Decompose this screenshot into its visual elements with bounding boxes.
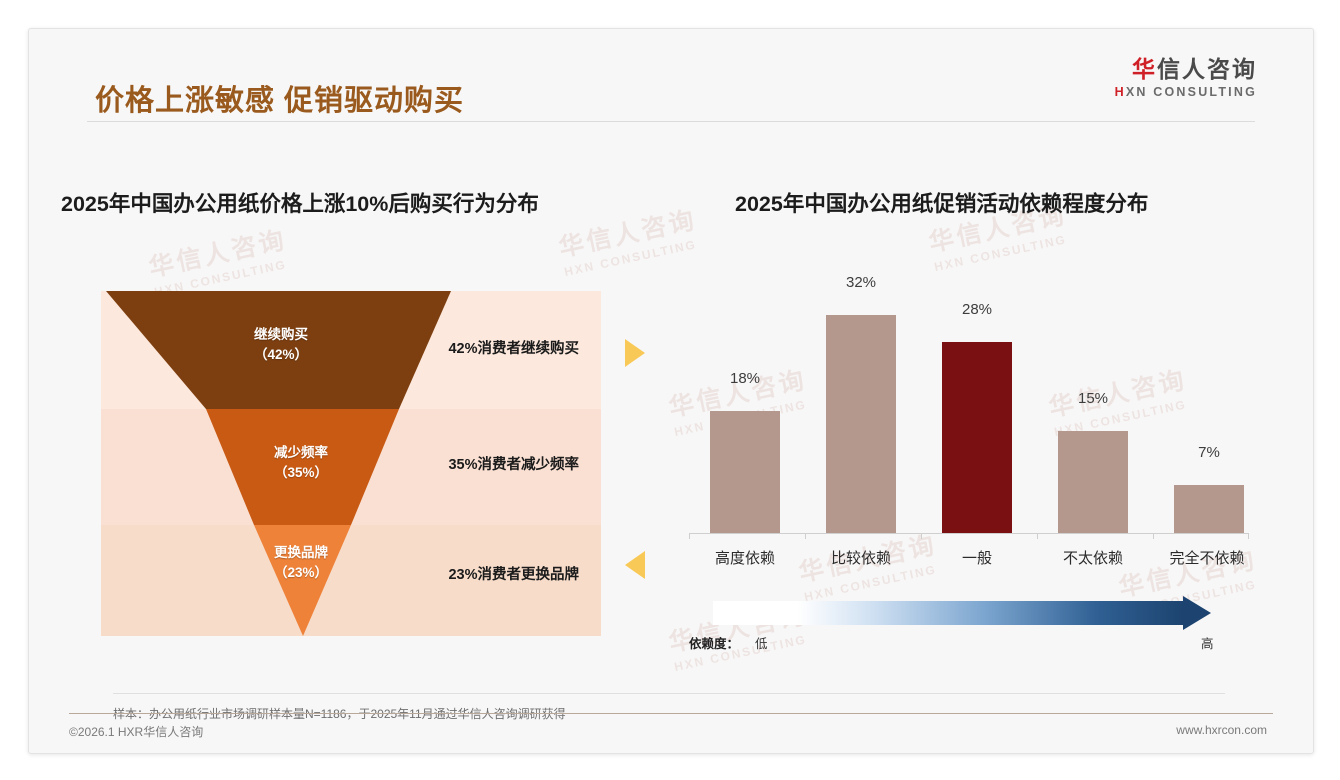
bar-value-label: 18% [701, 370, 789, 387]
bar-rect[interactable] [1058, 431, 1128, 533]
funnel-chart: 42%消费者继续购买 35%消费者减少频率 23%消费者更换品牌 继续购买 （4… [101, 263, 601, 636]
bar-rect[interactable] [710, 411, 780, 533]
logo-english-rest: XN CONSULTING [1126, 85, 1257, 99]
bar-rect[interactable] [1174, 485, 1244, 533]
bar-column: 7% [1165, 261, 1253, 533]
axis-tick [1153, 533, 1154, 539]
axis-tick [921, 533, 922, 539]
bar-value-label: 28% [933, 301, 1021, 318]
axis-tick [805, 533, 806, 539]
arrow-right-icon [1183, 596, 1211, 630]
funnel-shape [101, 263, 601, 636]
slide-header: 价格上涨敏感 促销驱动购买 华信人咨询 HXN CONSULTING [29, 29, 1313, 125]
bar-rect-highlight[interactable] [942, 342, 1012, 533]
bar-value-label: 32% [817, 274, 905, 291]
website-url[interactable]: www.hxrcon.com [1176, 723, 1267, 737]
bar-plot-area: 18% 32% 28% 15% 7% [689, 261, 1249, 533]
dependency-gradient-legend: 依赖度： 低 高 [689, 601, 1249, 663]
axis-tick [1248, 533, 1249, 539]
x-axis-line [689, 533, 1249, 534]
funnel-segment-2 [206, 409, 399, 525]
left-chart-title: 2025年中国办公用纸价格上涨10%后购买行为分布 [61, 187, 539, 218]
copyright-text: ©2026.1 HXR华信人咨询 [69, 723, 203, 740]
logo-chinese-rest: 信人咨询 [1157, 56, 1257, 82]
bar-column: 15% [1049, 261, 1137, 533]
play-right-icon [625, 339, 645, 367]
category-label: 一般 [925, 547, 1029, 568]
logo-brand-char: 华 [1132, 56, 1157, 82]
bar-value-label: 15% [1049, 390, 1137, 407]
header-divider [87, 121, 1255, 122]
bar-chart: 18% 32% 28% 15% 7% [689, 261, 1249, 563]
logo-chinese: 华信人咨询 [1115, 57, 1257, 82]
axis-tick [689, 533, 690, 539]
legend-high-label: 高 [1201, 633, 1214, 652]
gradient-bar [713, 601, 1183, 625]
logo-english: HXN CONSULTING [1115, 85, 1257, 99]
bar-column: 18% [701, 261, 789, 533]
category-label: 完全不依赖 [1155, 547, 1259, 568]
footnote-divider [113, 693, 1225, 694]
logo-english-first: H [1115, 85, 1126, 99]
bar-column: 28% [933, 261, 1021, 533]
funnel-segment-1 [106, 291, 451, 409]
category-label: 高度依赖 [693, 547, 797, 568]
watermark-cn: 华信人咨询 [555, 200, 699, 264]
category-label: 不太依赖 [1041, 547, 1145, 568]
bar-column: 32% [817, 261, 905, 533]
footer-divider [69, 713, 1273, 714]
slide-canvas: 华信人咨询 HXN CONSULTING 华信人咨询 HXN CONSULTIN… [28, 28, 1314, 754]
bar-rect[interactable] [826, 315, 896, 533]
play-left-icon [625, 551, 645, 579]
axis-tick [1037, 533, 1038, 539]
legend-low-label: 低 [755, 633, 768, 652]
bar-value-label: 7% [1165, 444, 1253, 461]
legend-title: 依赖度： [689, 633, 739, 652]
category-label: 比较依赖 [809, 547, 913, 568]
page-title: 价格上涨敏感 促销驱动购买 [95, 77, 464, 119]
company-logo: 华信人咨询 HXN CONSULTING [1115, 57, 1257, 99]
funnel-segment-3 [254, 525, 351, 636]
right-chart-title: 2025年中国办公用纸促销活动依赖程度分布 [735, 187, 1148, 218]
